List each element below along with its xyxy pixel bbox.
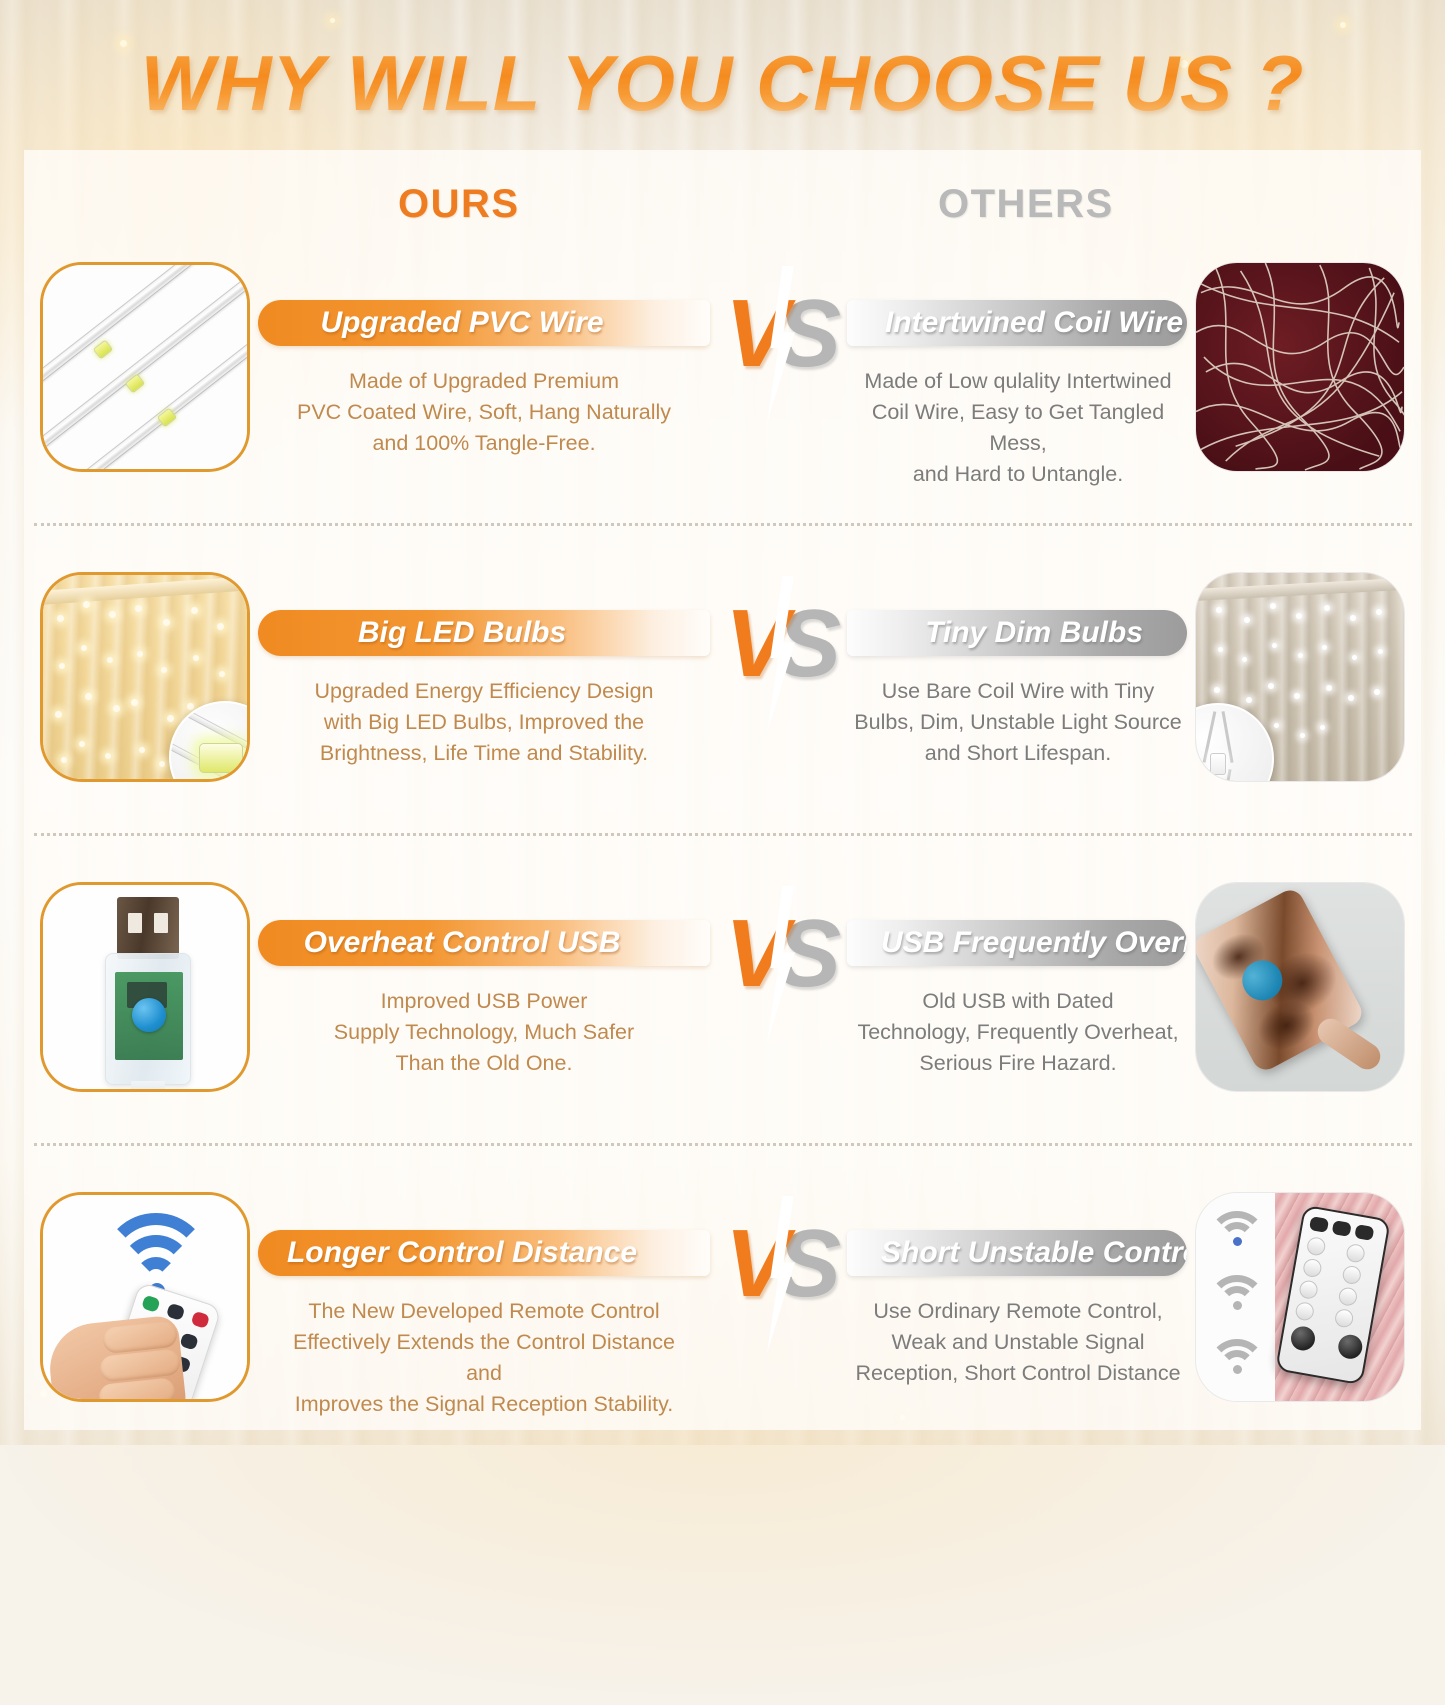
page-title-wrap: WHY WILL YOU CHOOSE US ? [0, 38, 1445, 129]
desc-line: with Big LED Bulbs, Improved the [278, 707, 690, 738]
thumbnail-tangled-coil-wire-photo [1195, 262, 1405, 472]
thumbnail-ordinary-remote-weak-signal-photo [1195, 1192, 1405, 1402]
usb-illustration [43, 885, 247, 1089]
desc-line: and 100% Tangle-Free. [278, 428, 690, 459]
burnt-usb-illustration [1196, 883, 1404, 1091]
big-led-bulb [199, 743, 243, 773]
sparkle [330, 18, 335, 23]
banner-ours-4: Longer Control Distance [258, 1230, 710, 1276]
desc-line: Bulbs, Dim, Unstable Light Source [853, 707, 1183, 738]
description-ours-3: Improved USB Power Supply Technology, Mu… [278, 986, 690, 1079]
remote-number-buttons [1294, 1236, 1379, 1331]
desc-line: Use Ordinary Remote Control, [853, 1296, 1183, 1327]
banner-others-4: Short Unstable Control [847, 1230, 1187, 1276]
remote-dial-buttons [1289, 1325, 1364, 1361]
description-others-2: Use Bare Coil Wire with Tiny Bulbs, Dim,… [853, 676, 1183, 769]
desc-line: and Hard to Untangle. [853, 459, 1183, 490]
row-divider [34, 523, 1412, 526]
wifi-signal-icon [1208, 1275, 1268, 1319]
desc-line: Brightness, Life Time and Stability. [278, 738, 690, 769]
column-headers: OURS OTHERS [0, 182, 1445, 244]
warm-curtain-illustration [43, 575, 247, 779]
row-divider [34, 833, 1412, 836]
vs-icon: V S [723, 1200, 843, 1350]
wifi-signal-icon [1208, 1211, 1268, 1255]
page-title: WHY WILL YOU CHOOSE US ? [141, 38, 1305, 129]
usb-power-button [132, 998, 166, 1032]
desc-line: Use Bare Coil Wire with Tiny [853, 676, 1183, 707]
description-others-3: Old USB with Dated Technology, Frequentl… [853, 986, 1183, 1079]
finger [99, 1348, 181, 1382]
weak-signal-illustration [1196, 1193, 1404, 1401]
desc-line: Old USB with Dated [853, 986, 1183, 1017]
vs-icon: V S [723, 890, 843, 1040]
led-chip [93, 339, 114, 359]
thumbnail-warm-curtain-lights-photo [40, 572, 250, 782]
thumbnail-hand-holding-remote-strong-signal-photo [40, 1192, 250, 1402]
column-header-others: OTHERS [938, 182, 1114, 227]
vs-icon: V S [723, 270, 843, 420]
banner-others-1: Intertwined Coil Wire [847, 300, 1187, 346]
description-ours-4: The New Developed Remote Control Effecti… [278, 1296, 690, 1420]
desc-line: Made of Upgraded Premium [278, 366, 690, 397]
desc-line: Effectively Extends the Control Distance… [278, 1327, 690, 1389]
desc-line: Upgraded Energy Efficiency Design [278, 676, 690, 707]
desc-line: PVC Coated Wire, Soft, Hang Naturally [278, 397, 690, 428]
tangled-wire-illustration [1196, 263, 1404, 471]
tangle-strands [1196, 263, 1404, 471]
desc-line: Weak and Unstable Signal [853, 1327, 1183, 1358]
inset-closeup-big-led-bulb [169, 701, 250, 782]
usb-connector [117, 897, 179, 959]
desc-line: Reception, Short Control Distance [853, 1358, 1183, 1389]
banner-ours-3: Overheat Control USB [258, 920, 710, 966]
usb-cable-tail [131, 1081, 165, 1092]
comparison-row-2: Big LED Bulbs Upgraded Energy Efficiency… [0, 558, 1445, 848]
desc-line: Serious Fire Hazard. [853, 1048, 1183, 1079]
usb-housing [105, 953, 191, 1085]
tiny-bulb [1210, 753, 1226, 775]
desc-line: Improves the Signal Reception Stability. [278, 1389, 690, 1420]
banner-others-2: Tiny Dim Bulbs [847, 610, 1187, 656]
vs-icon: V S [723, 580, 843, 730]
comparison-row-3: Overheat Control USB Improved USB Power … [0, 868, 1445, 1158]
column-header-ours: OURS [398, 182, 520, 227]
banner-ours-1: Upgraded PVC Wire [258, 300, 710, 346]
description-others-1: Made of Low qulality Intertwined Coil Wi… [853, 366, 1183, 490]
signal-strength-panel [1196, 1193, 1275, 1401]
thumbnail-dim-curtain-lights-photo [1195, 572, 1405, 782]
dim-curtain-illustration [1196, 573, 1404, 781]
desc-line: The New Developed Remote Control [278, 1296, 690, 1327]
comparison-row-1: Upgraded PVC Wire Made of Upgraded Premi… [0, 248, 1445, 538]
wifi-signal-icon [1208, 1339, 1268, 1383]
description-others-4: Use Ordinary Remote Control, Weak and Un… [853, 1296, 1183, 1389]
banner-ours-2: Big LED Bulbs [258, 610, 710, 656]
banner-others-3: USB Frequently Overheat [847, 920, 1187, 966]
desc-line: Supply Technology, Much Safer [278, 1017, 690, 1048]
desc-line: Technology, Frequently Overheat, [853, 1017, 1183, 1048]
desc-line: Improved USB Power [278, 986, 690, 1017]
comparison-row-4: Longer Control Distance The New Develope… [0, 1178, 1445, 1468]
hand [46, 1314, 189, 1402]
desc-line: and Short Lifespan. [853, 738, 1183, 769]
thumbnail-transparent-usb-controller-photo [40, 882, 250, 1092]
remote-signal-illustration [43, 1195, 247, 1399]
desc-line: Coil Wire, Easy to Get Tangled Mess, [853, 397, 1183, 459]
ordinary-remote-control [1275, 1205, 1391, 1386]
description-ours-1: Made of Upgraded Premium PVC Coated Wire… [278, 366, 690, 459]
wire-strand [40, 262, 250, 414]
thumbnail-pvc-coated-led-wire-photo [40, 262, 250, 472]
description-ours-2: Upgraded Energy Efficiency Design with B… [278, 676, 690, 769]
desc-line: Made of Low qulality Intertwined [853, 366, 1183, 397]
thumbnail-burnt-usb-adapter-photo [1195, 882, 1405, 1092]
desc-line: Than the Old One. [278, 1048, 690, 1079]
pvc-wire-illustration [43, 265, 247, 469]
remote-on-fur-photo [1275, 1193, 1404, 1401]
sparkle [1340, 22, 1346, 28]
row-divider [34, 1143, 1412, 1146]
